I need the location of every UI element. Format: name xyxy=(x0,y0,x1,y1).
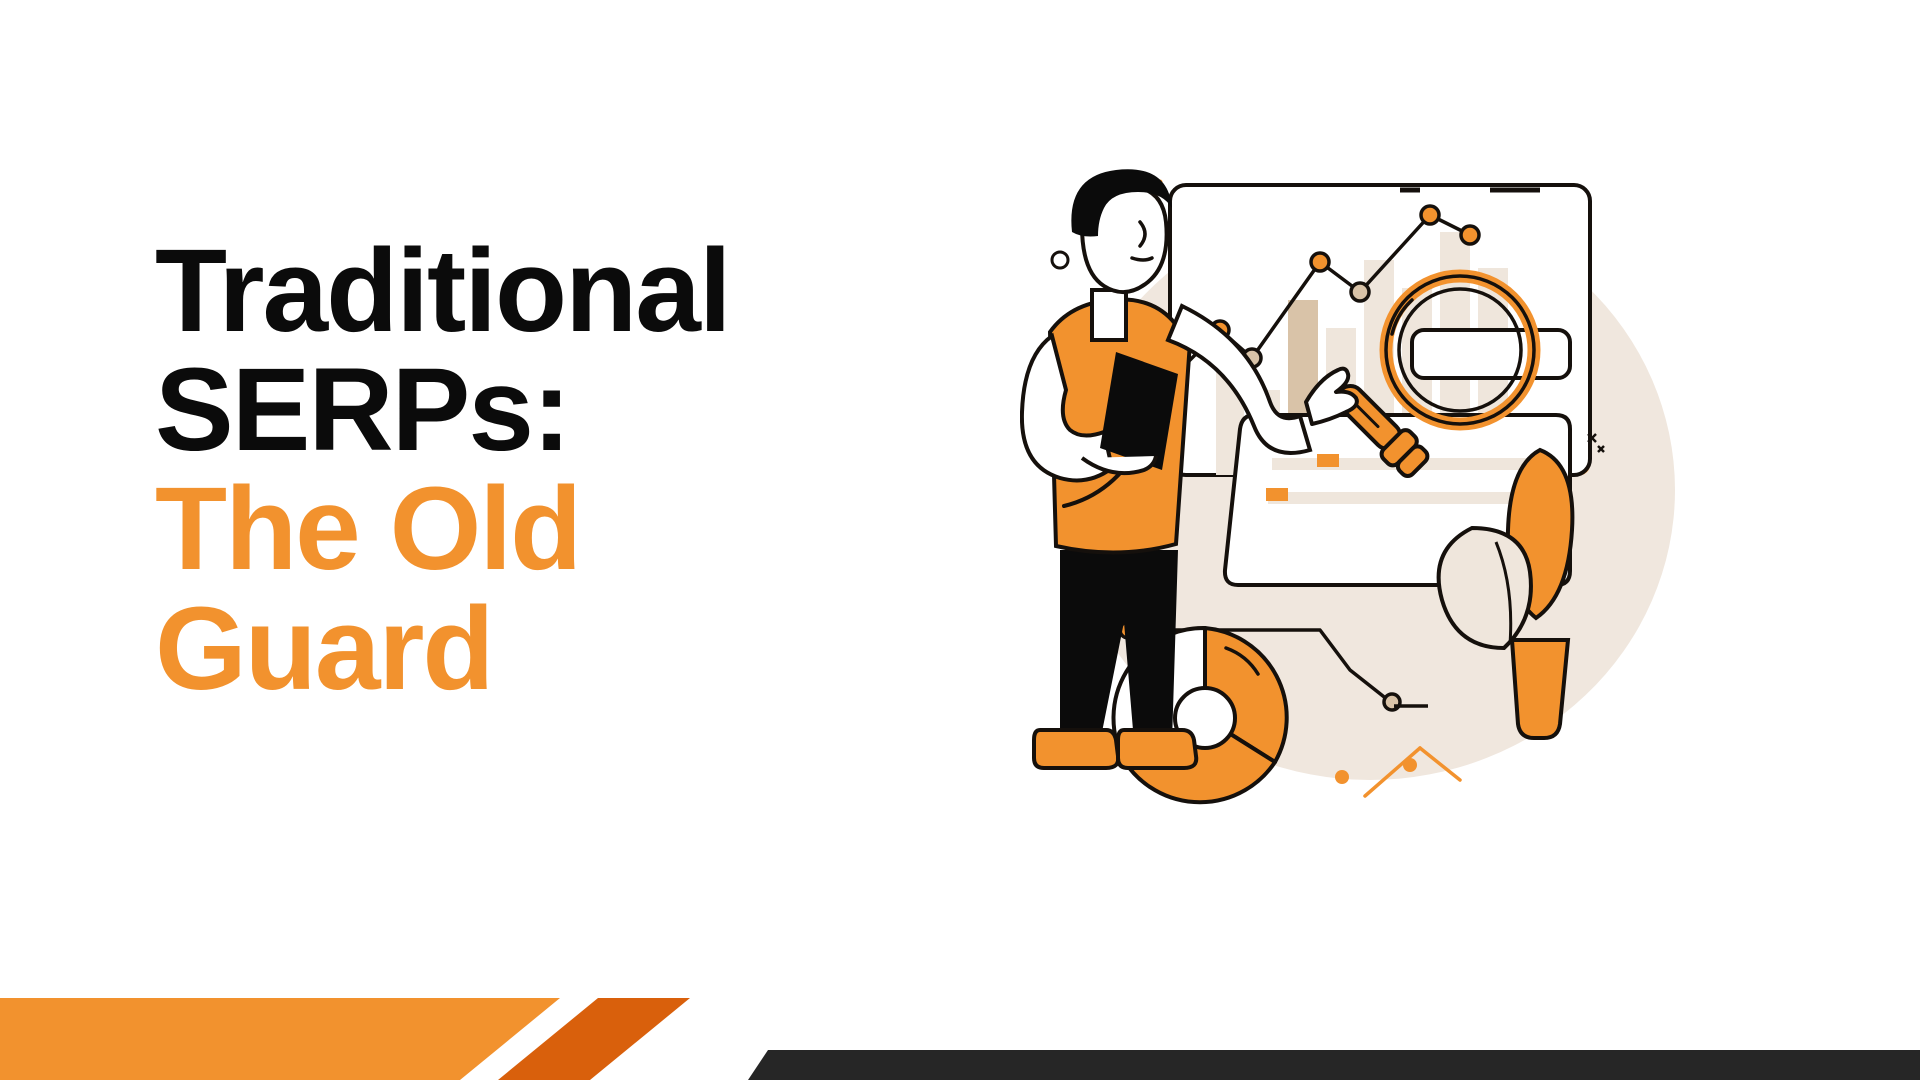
title-line-3: The Old xyxy=(155,470,915,589)
search-input[interactable] xyxy=(1412,330,1570,378)
title-line-2: SERPs: xyxy=(155,351,915,470)
result-accent-chip xyxy=(1266,488,1288,501)
seo-analytics-illustration xyxy=(1020,140,1720,820)
title-line-4: Guard xyxy=(155,590,915,709)
decor-circle-icon xyxy=(1052,252,1068,268)
decor-dot-icon xyxy=(1335,770,1349,784)
deco-bar-orange xyxy=(0,998,560,1080)
deco-bar-charcoal xyxy=(748,1050,1920,1080)
slide-canvas: Traditional SERPs: The Old Guard xyxy=(0,0,1920,1080)
page-title: Traditional SERPs: The Old Guard xyxy=(155,232,915,709)
bottom-decoration xyxy=(0,970,1920,1080)
result-line xyxy=(1268,492,1548,504)
result-accent-chip xyxy=(1317,454,1339,467)
title-line-1: Traditional xyxy=(155,232,915,351)
